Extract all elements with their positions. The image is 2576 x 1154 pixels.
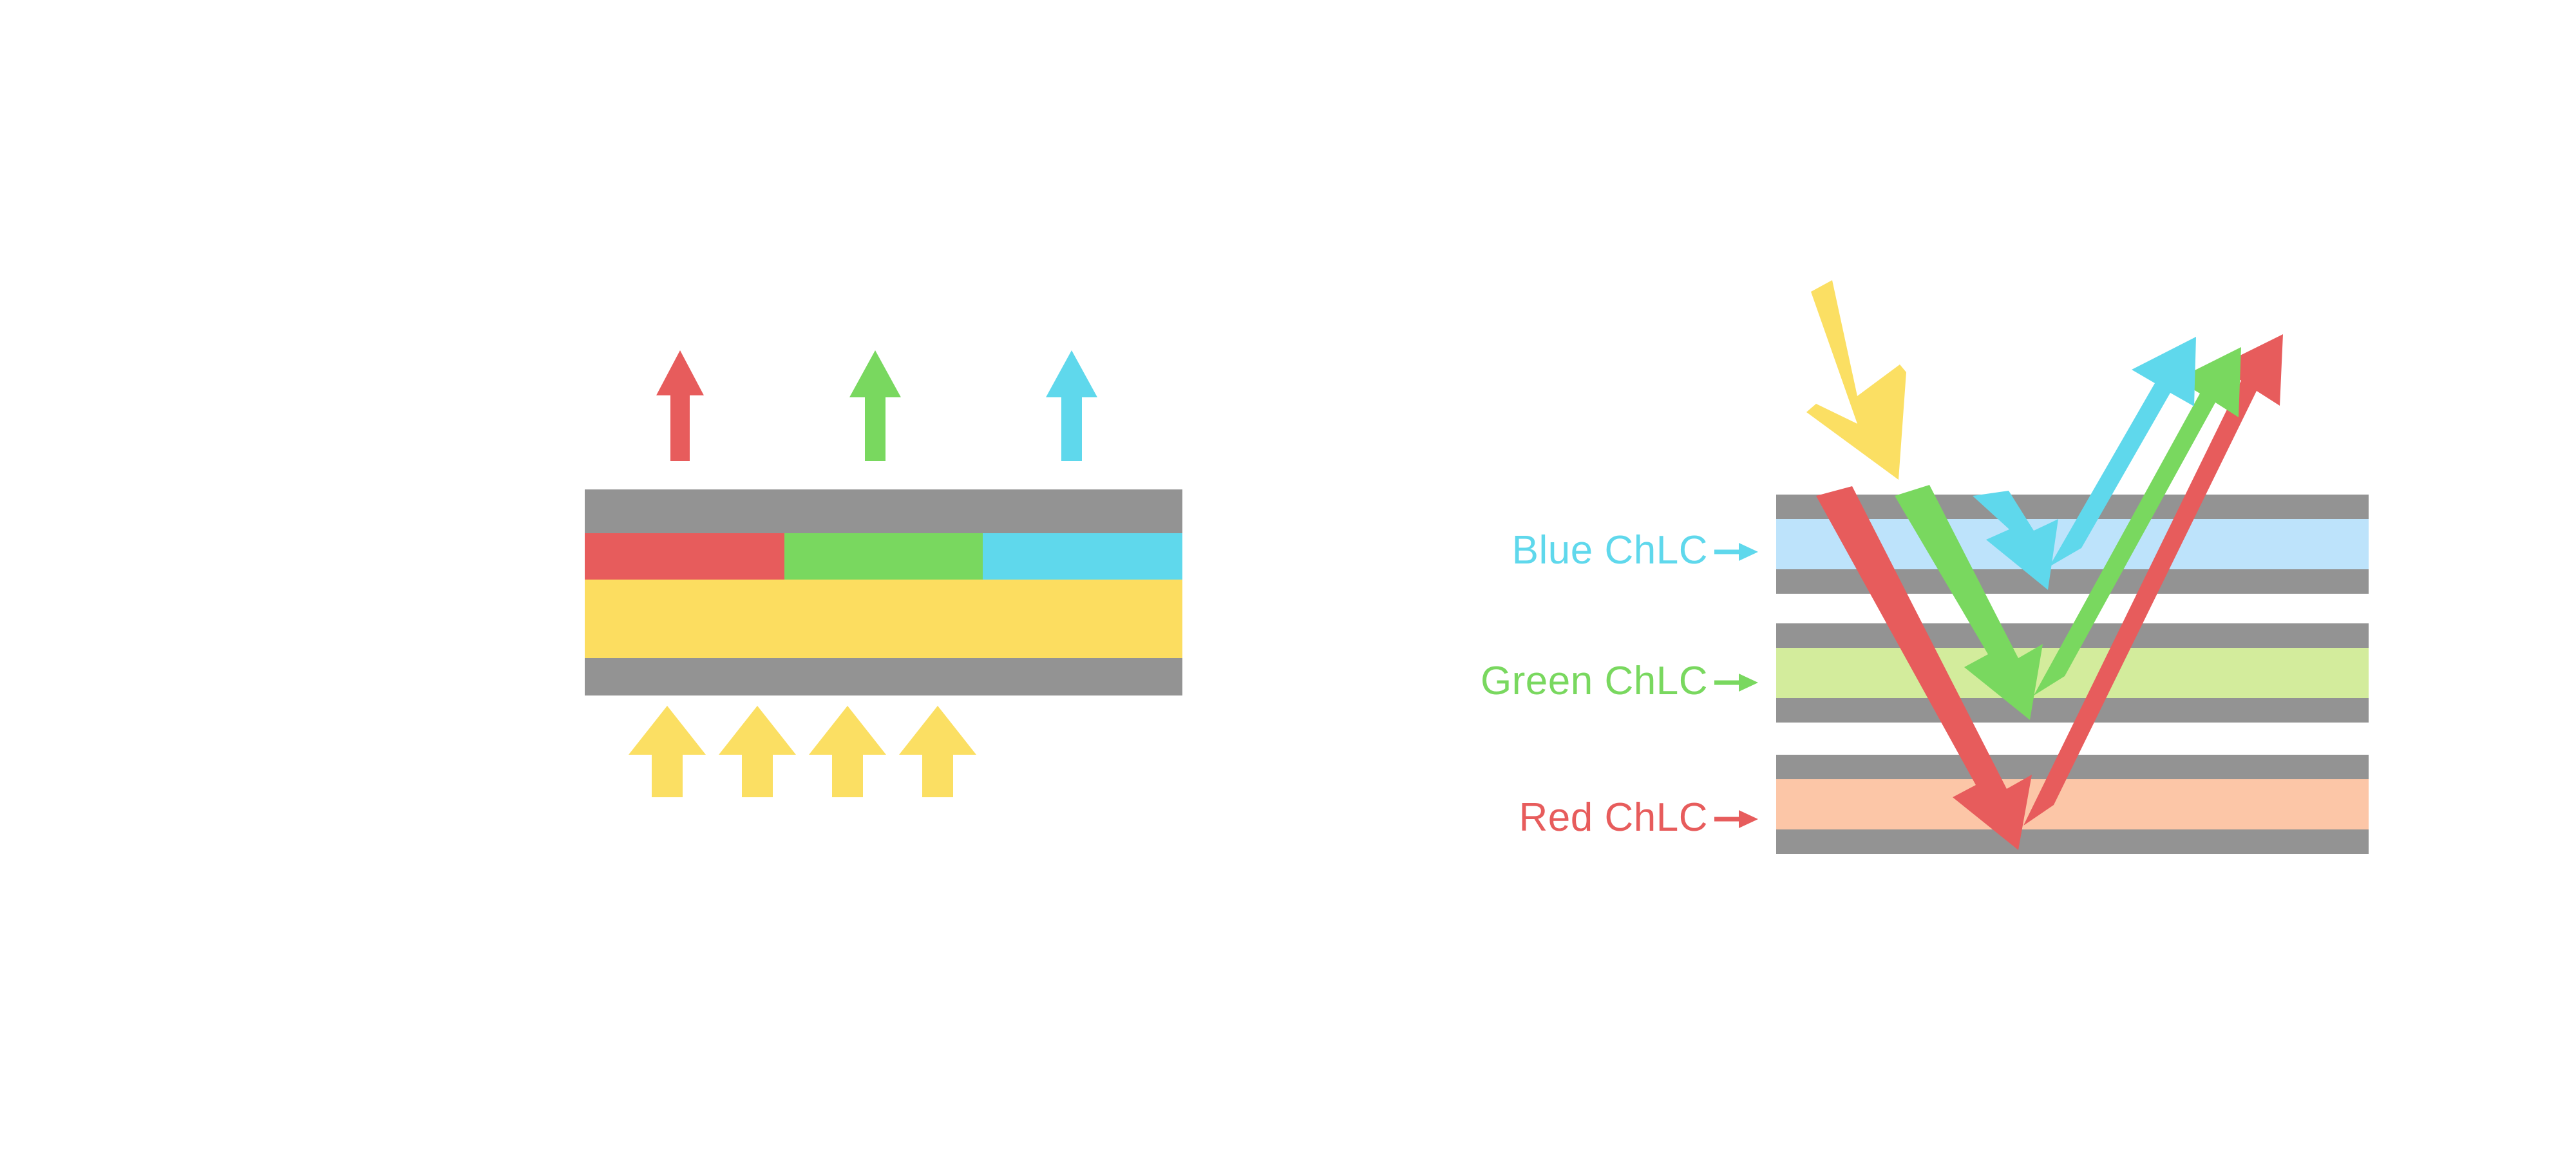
incident-white-light-arrow <box>1806 280 1906 480</box>
backlight-arrow <box>899 706 976 797</box>
diagram-stage: Blue ChLC Green ChLC Red ChLC <box>0 0 2576 1154</box>
green-emitted-light-arrow <box>849 350 901 461</box>
bottom-substrate <box>585 658 1182 695</box>
red-filter-segment <box>585 533 784 580</box>
left-stack <box>585 489 1182 695</box>
green-bottom-alignment-layer <box>1776 698 2369 723</box>
top-substrate <box>585 489 1182 533</box>
backlight-arrow <box>809 706 886 797</box>
figure-canvas: Blue ChLC Green ChLC Red ChLC <box>0 0 2576 1154</box>
green-chlc-label-arrow-head <box>1739 674 1758 692</box>
green-filter-segment <box>784 533 983 580</box>
blue-filter-segment <box>983 533 1182 580</box>
right-panel-labels: Blue ChLC Green ChLC Red ChLC <box>1481 528 1758 840</box>
backlight-arrow <box>629 706 706 797</box>
backlight-layer <box>585 580 1182 658</box>
blue-chlc-label: Blue ChLC <box>1512 528 1708 572</box>
right-panel: Blue ChLC Green ChLC Red ChLC <box>1481 280 2369 854</box>
backlight-arrow <box>719 706 796 797</box>
left-top-arrows <box>656 350 1097 461</box>
red-chlc-label: Red ChLC <box>1519 795 1708 840</box>
red-chlc-label-arrow-head <box>1739 810 1758 828</box>
blue-emitted-light-arrow <box>1046 350 1097 461</box>
blue-chlc-label-arrow-head <box>1739 543 1758 561</box>
red-bottom-alignment-layer <box>1776 829 2369 854</box>
green-chlc-label: Green ChLC <box>1481 659 1708 703</box>
left-panel <box>585 350 1182 797</box>
red-chlc-layer <box>1776 779 2369 829</box>
color-filter-row <box>585 533 1182 580</box>
red-emitted-light-arrow <box>656 350 704 461</box>
backlight-arrows <box>629 706 976 797</box>
